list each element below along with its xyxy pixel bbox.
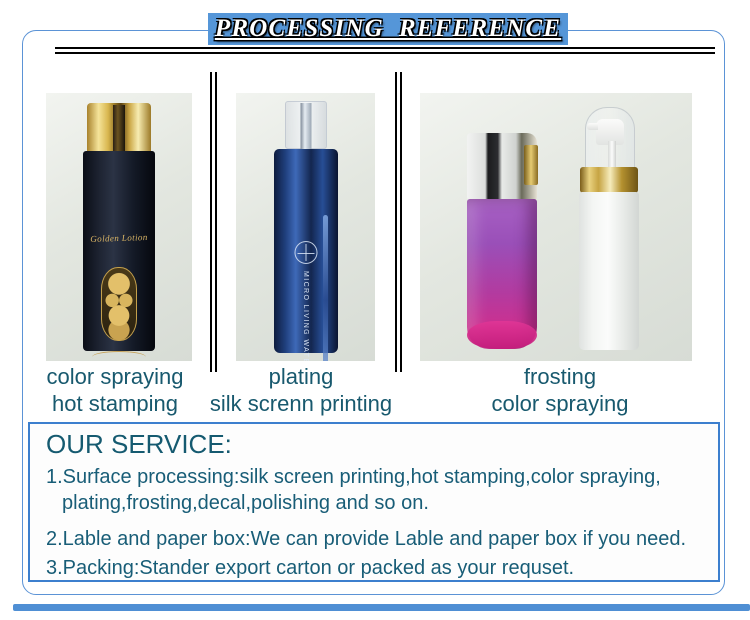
frosted-bottle-body bbox=[579, 192, 639, 350]
circle-crosshair-logo-icon bbox=[294, 241, 317, 264]
separator-line-right bbox=[400, 72, 402, 372]
photo-caption-1: color spraying hot stamping bbox=[25, 363, 205, 417]
photo-caption-3: frosting color spraying bbox=[400, 363, 720, 417]
product-photo-strip: Golden Lotion MICRO LIVING WATER 微 活 水 bbox=[25, 88, 725, 363]
service-line-3: 3.Packing:Stander export carton or packe… bbox=[46, 557, 574, 580]
bottom-accent-bar bbox=[13, 604, 750, 611]
gold-pump-collar bbox=[580, 167, 638, 193]
divider-line-lower bbox=[55, 52, 715, 54]
pump-stem bbox=[608, 141, 616, 167]
service-line-1a: 1.Surface processing:silk screen printin… bbox=[46, 466, 661, 489]
page-title: PROCESSING REFERENCE bbox=[215, 15, 561, 43]
column-separator-1 bbox=[210, 72, 216, 372]
product-photo-blue-plated: MICRO LIVING WATER 微 活 水 bbox=[236, 93, 375, 361]
header-divider bbox=[55, 47, 715, 54]
separator-line-left bbox=[395, 72, 397, 372]
service-line-2: 2.Lable and paper box:We can provide Lab… bbox=[46, 528, 686, 551]
photo-caption-2: plating silk screnn printing bbox=[206, 363, 396, 417]
product-photo-frosted-purple bbox=[420, 93, 692, 361]
bottle-script-label: Golden Lotion bbox=[90, 232, 148, 244]
title-banner: PROCESSING REFERENCE bbox=[208, 13, 568, 45]
photo-background bbox=[420, 93, 692, 361]
separator-line-left bbox=[210, 72, 212, 372]
cap-slot bbox=[113, 105, 125, 153]
separator-line-right bbox=[215, 72, 217, 372]
column-separator-2 bbox=[395, 72, 401, 372]
divider-line-upper bbox=[55, 47, 715, 49]
blue-bottle-body: MICRO LIVING WATER 微 活 水 bbox=[274, 149, 338, 353]
silver-pump-stem bbox=[300, 103, 311, 151]
service-info-box: OUR SERVICE: 1.Surface processing:silk s… bbox=[28, 422, 720, 582]
purple-bottle-base bbox=[467, 321, 537, 349]
product-photo-black-gold: Golden Lotion bbox=[46, 93, 192, 361]
service-line-1b: plating,frosting,decal,polishing and so … bbox=[62, 492, 429, 515]
gold-accent-line bbox=[92, 351, 146, 357]
bottle-highlight bbox=[323, 215, 328, 361]
bottle-vertical-label: MICRO LIVING WATER bbox=[302, 271, 309, 361]
cap-gold-accent bbox=[524, 145, 538, 185]
service-heading: OUR SERVICE: bbox=[46, 429, 232, 460]
black-bottle-body: Golden Lotion bbox=[83, 151, 155, 351]
gold-ornament-icon bbox=[101, 267, 137, 341]
